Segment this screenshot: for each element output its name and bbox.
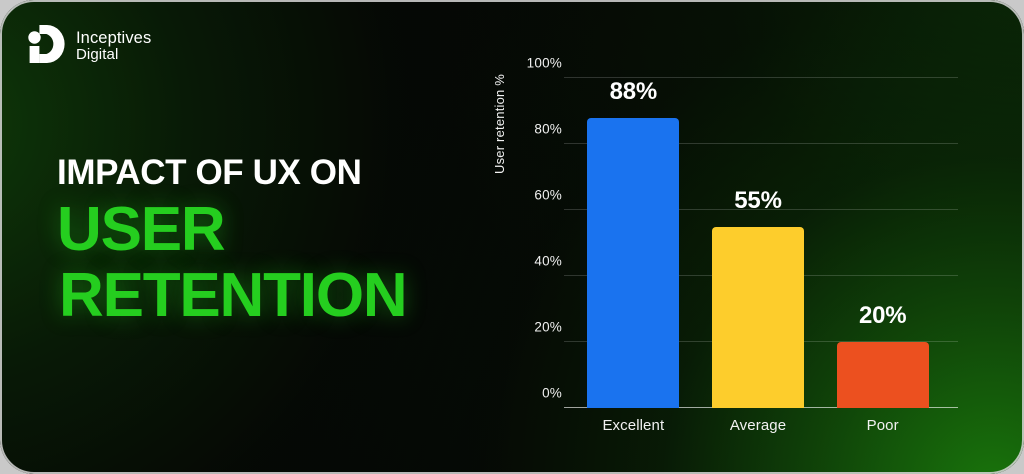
bar-value-label: 88%	[610, 78, 657, 106]
headline-line-3: RETENTION	[59, 266, 477, 326]
chart-bar[interactable]	[837, 342, 929, 408]
brand-name-line-2: Digital	[76, 47, 151, 63]
chart-bar-group: 20%Poor	[820, 78, 945, 408]
y-axis-tick-label: 100%	[527, 56, 562, 71]
brand-wordmark: Inceptives Digital	[76, 30, 151, 63]
headline-block: IMPACT OF UX ON USER RETENTION	[57, 155, 477, 325]
chart-bars: 88%Excellent55%Average20%Poor	[571, 78, 945, 408]
y-axis-tick-label: 0%	[542, 386, 562, 401]
y-axis-tick-label: 40%	[534, 254, 562, 269]
brand-name-line-1: Inceptives	[76, 30, 151, 47]
chart-bar[interactable]	[587, 118, 679, 408]
y-axis-tick-label: 60%	[534, 188, 562, 203]
y-axis-tick-label: 80%	[534, 122, 562, 137]
id-monogram-icon	[27, 23, 67, 70]
y-axis-tick-label: 20%	[534, 320, 562, 335]
infographic-card: Inceptives Digital IMPACT OF UX ON USER …	[0, 0, 1024, 474]
x-axis-category-label: Average	[730, 417, 786, 434]
headline-line-1: IMPACT OF UX ON	[57, 155, 477, 190]
brand-logo: Inceptives Digital	[27, 23, 151, 70]
bar-value-label: 55%	[734, 187, 781, 215]
chart-bar-group: 55%Average	[696, 78, 821, 408]
retention-bar-chart: User retention % 0%20%40%60%80%100% 88%E…	[492, 78, 962, 428]
headline-line-2: USER	[57, 200, 477, 260]
y-axis-title: User retention %	[492, 14, 507, 174]
chart-bar-group: 88%Excellent	[571, 78, 696, 408]
bar-value-label: 20%	[859, 302, 906, 330]
chart-bar[interactable]	[712, 227, 804, 409]
chart-plot-area: 0%20%40%60%80%100% 88%Excellent55%Averag…	[571, 78, 945, 408]
x-axis-category-label: Excellent	[602, 417, 664, 434]
x-axis-category-label: Poor	[867, 417, 899, 434]
